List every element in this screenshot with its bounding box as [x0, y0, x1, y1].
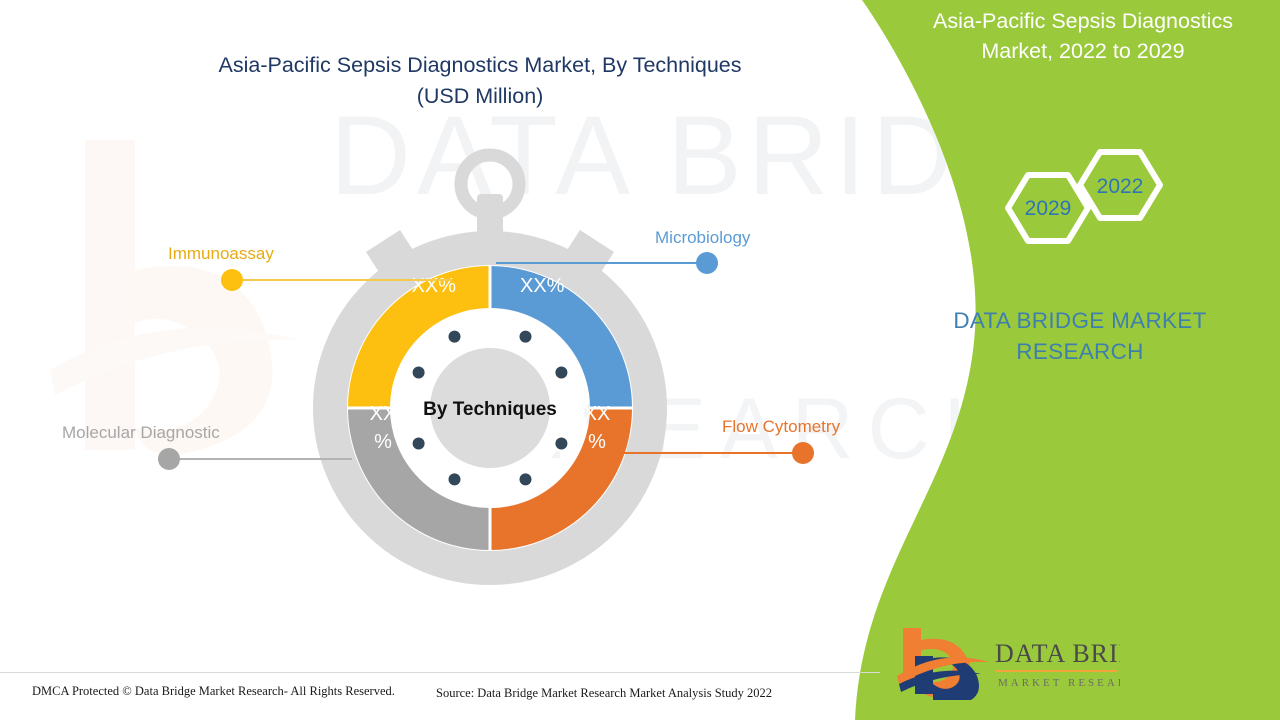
footer-divider [0, 672, 880, 673]
value-label-immunoassay: XX% [412, 275, 457, 297]
callout-label-immunoassay[interactable]: Immunoassay [168, 244, 274, 264]
stopwatch-crown-icon [461, 155, 519, 240]
logo-mark-icon [897, 628, 989, 700]
panel-title: Asia-Pacific Sepsis Diagnostics Market, … [893, 6, 1273, 66]
page-title-line2: (USD Million) [130, 81, 830, 112]
infographic-slide: DATA BRIDGE RESEARCH Asia-Pacific Sepsis… [0, 0, 1280, 720]
marker-flow-cytometry[interactable] [792, 442, 814, 464]
logo-tagline: MARKET RESEARCH [998, 677, 1120, 689]
page-title-line1: Asia-Pacific Sepsis Diagnostics Market, … [130, 50, 830, 81]
panel-content: Asia-Pacific Sepsis Diagnostics Market, … [885, 0, 1280, 720]
marker-molecular-diagnostic[interactable] [158, 448, 180, 470]
hexagon-forecast-year: 2029 [1008, 175, 1088, 241]
panel-title-line2: Market, 2022 to 2029 [893, 36, 1273, 66]
hexagon-forecast-year-label: 2029 [1025, 197, 1072, 220]
value-label-microbiology: XX% [520, 275, 565, 297]
value-label-flow-cytometry-top: XX [584, 403, 611, 425]
year-hexagons: 2029 2022 [990, 140, 1180, 265]
page-title: Asia-Pacific Sepsis Diagnostics Market, … [130, 50, 830, 112]
marker-immunoassay[interactable] [221, 269, 243, 291]
value-label-molecular-top: XX [370, 403, 397, 425]
logo-name: DATA BRIDGE [995, 639, 1120, 668]
footer-dmca-notice: DMCA Protected © Data Bridge Market Rese… [32, 684, 395, 699]
callout-label-molecular-diagnostic[interactable]: Molecular Diagnostic [62, 423, 220, 443]
value-label-molecular-bottom: % [374, 431, 392, 453]
value-label-flow-cytometry-bottom: % [588, 431, 606, 453]
hexagon-base-year-label: 2022 [1097, 175, 1144, 198]
panel-brand-line1: DATA BRIDGE MARKET [885, 305, 1275, 336]
footer-source-note: Source: Data Bridge Market Research Mark… [436, 686, 772, 701]
data-bridge-logo: DATA BRIDGE MARKET RESEARCH [895, 622, 1120, 700]
logo-divider [996, 670, 1118, 672]
panel-brand-name: DATA BRIDGE MARKET RESEARCH [885, 305, 1275, 367]
panel-title-line1: Asia-Pacific Sepsis Diagnostics [893, 6, 1273, 36]
donut-chart: By Techniques XX% XX% XX % XX % [270, 140, 710, 590]
donut-center-label: By Techniques [423, 399, 557, 420]
hexagon-base-year: 2022 [1080, 152, 1160, 218]
callout-label-microbiology[interactable]: Microbiology [655, 228, 750, 248]
panel-brand-line2: RESEARCH [885, 336, 1275, 367]
callout-label-flow-cytometry[interactable]: Flow Cytometry [722, 417, 840, 437]
